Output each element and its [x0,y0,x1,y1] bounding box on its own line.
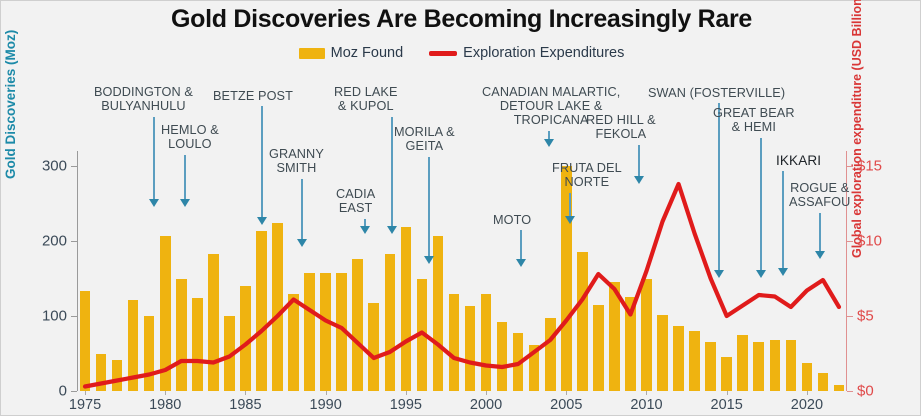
annotation-arrow-betze-post [261,106,263,217]
x-axis-tick [807,391,808,395]
annotation-arrow-morila-geita [428,157,430,256]
y-axis-right-tick [847,391,853,392]
y-axis-right-tick [847,316,853,317]
y-axis-left-tick-label: 0 [59,383,67,400]
chart-container: Gold Discoveries Are Becoming Increasing… [0,0,921,416]
x-axis-tick-label: 2020 [791,397,823,413]
annotation-arrow-great-bear-hemi [760,138,762,270]
y-axis-right-tick-label: $5 [857,308,874,325]
y-axis-left-tick-label: 300 [42,158,67,175]
legend-label-exploration-expenditures: Exploration Expenditures [463,45,624,61]
annotation-arrow-red-hill-fekola [638,145,640,176]
legend-entry-moz-found: Moz Found [299,45,404,61]
annotation-arrowhead-cadia-east [360,226,370,234]
annotation-arrowhead-moto [516,259,526,267]
x-axis-tick [486,391,487,395]
x-axis-tick [646,391,647,395]
y-axis-right-tick [847,241,853,242]
x-axis-tick-label: 2015 [711,397,743,413]
x-axis-tick [165,391,166,395]
annotation-label-ikkari: IKKARI [776,153,821,168]
annotation-arrowhead-fruta-del-norte [565,216,575,224]
annotation-arrowhead-granny-smith [297,239,307,247]
annotation-arrow-moto [520,230,522,259]
x-axis-tick [245,391,246,395]
y-axis-right-title: Global exploration expenditure (USD Bill… [850,8,864,258]
y-axis-right-tick-label: $15 [857,158,882,175]
annotation-arrowhead-hemlo-loulo [180,199,190,207]
x-axis-tick-label: 1990 [310,397,342,413]
annotation-label-cadia-east: CADIA EAST [336,187,375,215]
plot-area: 0100200300 $0$5$10$15 197519801985199019… [77,151,847,391]
annotation-label-hemlo-loulo: HEMLO & LOULO [161,123,219,151]
annotation-arrow-cadia-east [364,219,366,226]
annotation-arrow-hemlo-loulo [184,155,186,199]
y-axis-left-title: Gold Discoveries (Moz) [3,9,18,179]
x-axis-tick-label: 2010 [630,397,662,413]
x-axis-tick-label: 2000 [470,397,502,413]
annotation-arrow-ikkari [782,171,784,268]
annotation-label-swan-fosterville: SWAN (FOSTERVILLE) [648,86,785,100]
x-axis-tick [566,391,567,395]
line-swatch-icon [429,51,457,56]
bar-swatch-icon [299,48,325,59]
annotation-arrow-canadian-malartic-detour-lake-tropicana [548,131,550,139]
x-axis-tick [406,391,407,395]
annotation-label-moto: MOTO [493,213,531,227]
x-axis-tick-label: 2005 [550,397,582,413]
x-axis-tick [727,391,728,395]
annotation-arrowhead-swan-fosterville [714,270,724,278]
annotation-arrowhead-great-bear-hemi [756,270,766,278]
x-axis-tick [326,391,327,395]
line-series-exploration-expenditures [77,151,847,391]
x-axis-tick [85,391,86,395]
annotation-label-red-lake-kupol: RED LAKE & KUPOL [334,85,398,113]
chart-legend: Moz Found Exploration Expenditures [1,45,921,61]
annotation-arrowhead-canadian-malartic-detour-lake-tropicana [544,139,554,147]
chart-title: Gold Discoveries Are Becoming Increasing… [1,5,921,34]
annotation-arrowhead-ikkari [778,268,788,276]
annotation-arrow-fruta-del-norte [569,193,571,216]
annotation-label-rogue-assafou: ROGUE & ASSAFOU [789,181,850,209]
annotation-arrowhead-betze-post [257,217,267,225]
annotation-arrow-rogue-assafou [819,213,821,251]
x-axis-tick-label: 1980 [149,397,181,413]
annotation-arrowhead-red-lake-kupol [387,226,397,234]
y-axis-right-tick-label: $10 [857,233,882,250]
x-axis-tick-label: 1995 [390,397,422,413]
x-axis: 1975198019851990199520002005201020152020 [77,391,847,416]
x-axis-tick-label: 1975 [69,397,101,413]
annotation-label-granny-smith: GRANNY SMITH [269,147,324,175]
y-axis-left-tick-label: 100 [42,308,67,325]
legend-entry-exploration-expenditures: Exploration Expenditures [429,45,624,61]
annotation-arrowhead-red-hill-fekola [634,176,644,184]
annotation-label-boddington-bulyanhulu: BODDINGTON & BULYANHULU [94,85,193,113]
annotation-label-betze-post: BETZE POST [213,89,293,103]
annotation-arrowhead-rogue-assafou [815,251,825,259]
annotation-arrowhead-morila-geita [424,256,434,264]
y-axis-left-tick-label: 200 [42,233,67,250]
annotation-arrow-red-lake-kupol [391,117,393,226]
x-axis-tick-label: 1985 [229,397,261,413]
annotation-label-morila-geita: MORILA & GEITA [394,125,455,153]
legend-label-moz-found: Moz Found [331,45,404,61]
y-axis-right-tick [847,166,853,167]
annotation-arrow-boddington-bulyanhulu [153,117,155,199]
annotation-label-red-hill-fekola: RED HILL & FEKOLA [586,113,656,141]
y-axis-right-tick-label: $0 [857,383,874,400]
annotation-label-fruta-del-norte: FRUTA DEL NORTE [552,161,622,189]
annotation-arrow-granny-smith [301,179,303,239]
annotation-label-great-bear-hemi: GREAT BEAR & HEMI [713,106,795,134]
annotation-arrowhead-boddington-bulyanhulu [149,199,159,207]
